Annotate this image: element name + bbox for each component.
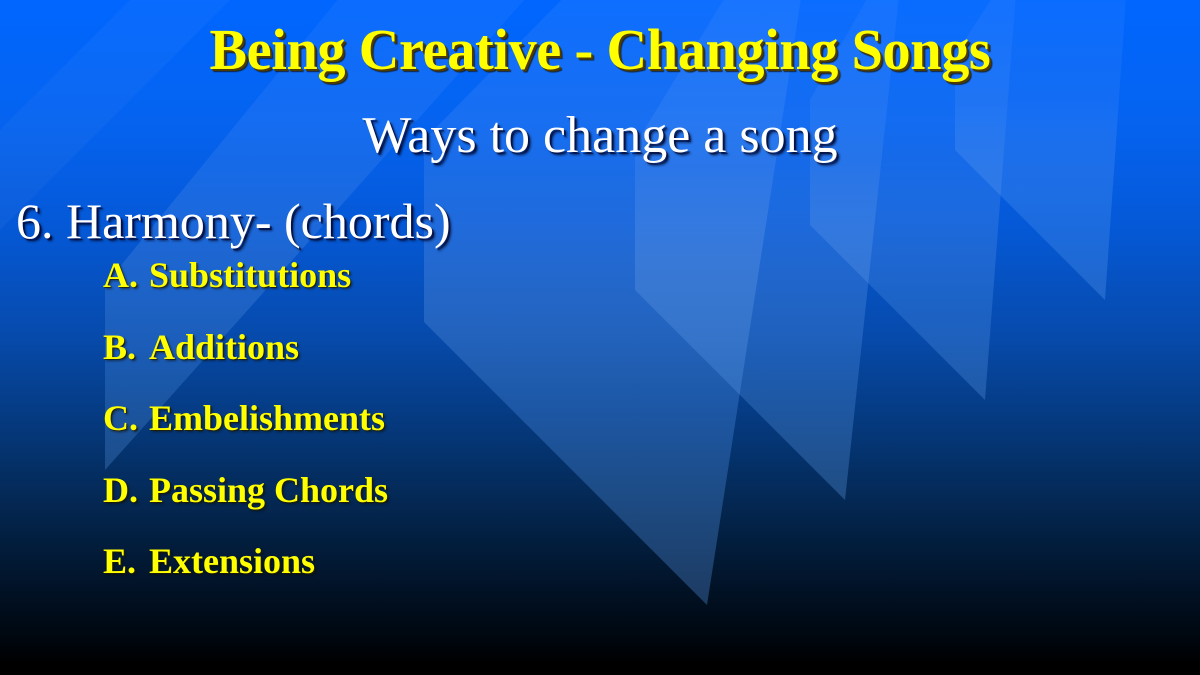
list-item-letter: A. <box>103 252 149 298</box>
slide-title: Being Creative - Changing Songs <box>18 16 1182 83</box>
presentation-slide: Being Creative - Changing Songs Ways to … <box>0 0 1200 675</box>
list-item-label: Additions <box>149 327 299 367</box>
slide-subtitle: Ways to change a song <box>0 106 1200 165</box>
list-item: A.Substitutions <box>103 252 388 324</box>
bottom-black-band <box>0 665 1200 675</box>
main-list-item: 6. Harmony- (chords) <box>16 192 451 250</box>
list-item: D.Passing Chords <box>103 467 388 539</box>
list-item-letter: C. <box>103 395 149 441</box>
list-item: E.Extensions <box>103 538 388 610</box>
list-item: B.Additions <box>103 324 388 396</box>
list-item: C.Embelishments <box>103 395 388 467</box>
list-item-label: Substitutions <box>149 255 351 295</box>
sub-list: A.Substitutions B.Additions C.Embelishme… <box>103 252 388 610</box>
list-item-label: Extensions <box>149 541 315 581</box>
list-item-label: Passing Chords <box>149 470 388 510</box>
list-item-label: Embelishments <box>149 398 385 438</box>
list-item-letter: E. <box>103 538 149 584</box>
list-item-letter: D. <box>103 467 149 513</box>
list-item-letter: B. <box>103 324 149 370</box>
